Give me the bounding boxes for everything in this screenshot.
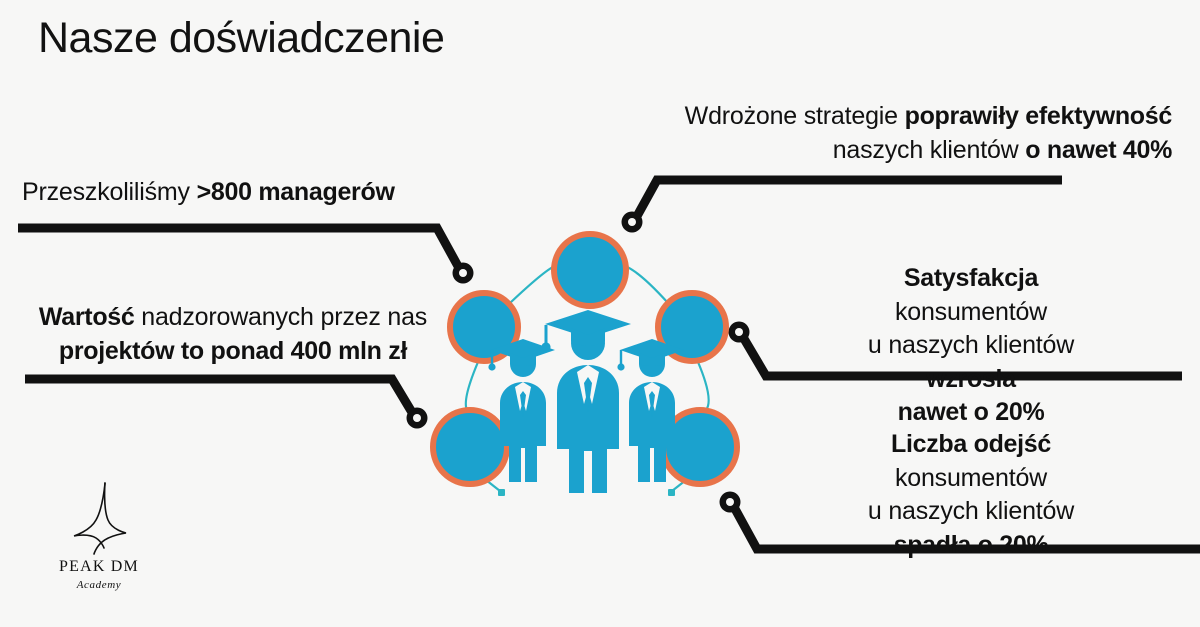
four-point-star-icon: [60, 478, 138, 556]
logo-name: PEAK DM: [33, 558, 165, 576]
graduates-group: [488, 310, 684, 493]
node-top: [554, 234, 626, 306]
connector-value: [25, 379, 428, 429]
network-nodes: [433, 234, 737, 484]
logo-subtitle: Academy: [33, 579, 165, 591]
stat-value-plain-1: nadzorowanych przez nas: [135, 303, 428, 331]
node-lower-left: [433, 410, 507, 484]
stat-value-line-1: Wartość nadzorowanych przez nas: [18, 301, 448, 335]
stat-customer-satisfaction: Satysfakcja konsumentów u naszych klient…: [762, 262, 1180, 430]
stat-satisfaction-line-2: u naszych klientów wzrosła: [762, 329, 1180, 396]
stat-trained-plain: Przeszkoliliśmy: [22, 178, 197, 206]
stat-trained-managers: Przeszkoliliśmy >800 managerów: [22, 176, 492, 210]
infographic-canvas: Nasze doświadczenie: [0, 0, 1200, 627]
stat-strategies-plain-2: naszych klientów: [833, 136, 1026, 164]
graduate-right: [617, 339, 684, 482]
stat-strategies-line-1: Wdrożone strategie poprawiły efektywność: [685, 102, 1172, 130]
stat-churn-line-2: u naszych klientów: [762, 495, 1180, 529]
stat-satisfaction-bold-3: nawet o 20%: [898, 398, 1045, 426]
stat-churn-bold-3: spadła o 20%: [894, 531, 1049, 559]
stat-satisfaction-line-1: Satysfakcja konsumentów: [762, 262, 1180, 329]
stat-trained-bold: >800 managerów: [197, 178, 395, 206]
logo: PEAK DM Academy: [33, 478, 165, 591]
stat-strategies-plain-1: Wdrożone strategie: [685, 102, 905, 130]
node-lower-right: [663, 410, 737, 484]
stat-satisfaction-plain-1: konsumentów: [762, 296, 1180, 330]
stat-strategies-bold-2: o nawet 40%: [1025, 136, 1172, 164]
graduate-left: [488, 339, 555, 482]
stat-churn-line-1: Liczba odejść konsumentów: [762, 428, 1180, 495]
stat-churn-bold-1: Liczba odejść: [891, 430, 1051, 458]
stat-customer-churn: Liczba odejść konsumentów u naszych klie…: [762, 428, 1180, 562]
stat-satisfaction-plain-2: u naszych klientów: [762, 329, 1180, 363]
page-title: Nasze doświadczenie: [38, 14, 444, 63]
stat-value-bold-1: Wartość: [39, 303, 135, 331]
network-arcs: [466, 266, 709, 491]
stat-satisfaction-line-3: nawet o 20%: [762, 396, 1180, 430]
stat-satisfaction-bold-1: Satysfakcja: [904, 264, 1038, 292]
node-upper-right: [658, 293, 726, 361]
stat-value-line-2: projektów to ponad 400 mln zł: [18, 335, 448, 369]
graduate-center: [541, 310, 631, 493]
connector-trained: [18, 228, 474, 284]
node-upper-left: [450, 293, 518, 361]
stat-churn-line-3: spadła o 20%: [762, 529, 1180, 563]
stat-strategies-bold-1: poprawiły efektywność: [905, 102, 1172, 130]
stat-strategy-effectiveness: Wdrożone strategie poprawiły efektywność…: [560, 100, 1172, 167]
connector-strategies: [622, 180, 1063, 233]
arc-endpoints: [498, 489, 675, 496]
stat-strategies-line-2: naszych klientów o nawet 40%: [560, 134, 1172, 168]
stat-satisfaction-bold-2: wzrosła: [926, 365, 1016, 393]
stat-project-value: Wartość nadzorowanych przez nas projektó…: [18, 301, 448, 368]
stat-churn-plain-1: konsumentów: [762, 462, 1180, 496]
stat-value-bold-2: projektów to ponad 400 mln zł: [59, 337, 407, 365]
